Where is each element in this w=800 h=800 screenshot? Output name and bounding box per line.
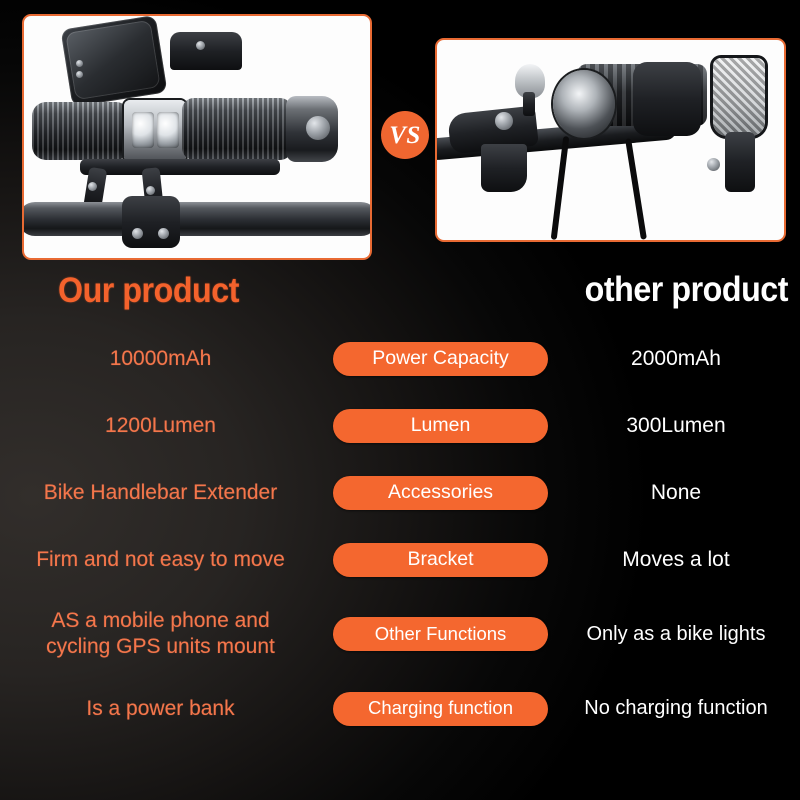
- comparison-row: 1200Lumen Lumen 300Lumen: [0, 392, 800, 459]
- our-value: 1200Lumen: [0, 413, 333, 439]
- other-product-photo: [435, 38, 786, 242]
- comparison-row: Is a power bank Charging function No cha…: [0, 675, 800, 742]
- feature-pill: Accessories: [333, 476, 548, 510]
- our-value: Bike Handlebar Extender: [0, 480, 333, 506]
- comparison-row: 10000mAh Power Capacity 2000mAh: [0, 325, 800, 392]
- brake-cable-left: [551, 136, 570, 240]
- other-light-mount-strap: [633, 62, 701, 136]
- feature-pill: Power Capacity: [333, 342, 548, 376]
- handlebar-reflector: [713, 58, 765, 136]
- comparison-row: AS a mobile phone and cycling GPS units …: [0, 593, 800, 675]
- comparison-row: Firm and not easy to move Bracket Moves …: [0, 526, 800, 593]
- bicycle-handlebar: [22, 202, 372, 236]
- brake-cable-right: [625, 138, 647, 240]
- light-mount-screw: [495, 112, 513, 130]
- comparison-rows: 10000mAh Power Capacity 2000mAh 1200Lume…: [0, 325, 800, 742]
- our-value: 10000mAh: [0, 346, 333, 372]
- handlebar-extender-bar: [80, 159, 280, 175]
- our-product-header: Our product: [58, 273, 239, 308]
- light-barrel-left-grip: [32, 102, 130, 160]
- reflector-stem: [725, 132, 755, 192]
- feature-pill: Bracket: [333, 543, 548, 577]
- our-value: Is a power bank: [0, 696, 333, 722]
- other-product-scene: [437, 40, 784, 240]
- cable-guide-bracket: [481, 144, 527, 192]
- clamp-bolt-a: [132, 228, 143, 239]
- feature-pill: Lumen: [333, 409, 548, 443]
- extender-bolt-right: [146, 186, 155, 195]
- other-light-lens-bezel: [553, 70, 615, 138]
- reflector-bolt: [707, 158, 720, 171]
- our-value-line-1: AS a mobile phone and: [0, 608, 321, 634]
- our-value-line-2: cycling GPS units mount: [0, 634, 321, 660]
- other-value: Moves a lot: [548, 547, 800, 573]
- phone-camera-lens-secondary: [76, 71, 83, 78]
- vs-badge-label: VS: [389, 123, 421, 148]
- other-value: No charging function: [548, 696, 800, 720]
- vs-badge: VS: [381, 111, 429, 159]
- our-value: Firm and not easy to move: [0, 547, 333, 573]
- other-product-header: other product: [585, 272, 788, 307]
- our-product-photo: [22, 14, 372, 260]
- led-emitter-right: [157, 112, 179, 148]
- phone-holder-arm: [170, 32, 242, 70]
- bell-stem: [523, 92, 535, 116]
- handlebar-clamp: [122, 196, 180, 248]
- other-value: 2000mAh: [548, 346, 800, 372]
- other-value: None: [548, 480, 800, 506]
- clamp-bolt-b: [158, 228, 169, 239]
- our-value: AS a mobile phone and cycling GPS units …: [0, 608, 333, 659]
- our-product-scene: [24, 16, 370, 258]
- holder-arm-bolt: [196, 41, 205, 50]
- product-comparison-poster: VS Our product other product: [0, 0, 800, 800]
- end-cap-button: [306, 116, 330, 140]
- led-emitter-left: [132, 112, 154, 148]
- light-barrel-right-grip: [182, 98, 292, 160]
- other-value: 300Lumen: [548, 413, 800, 439]
- feature-pill: Charging function: [333, 692, 548, 726]
- other-value: Only as a bike lights: [548, 622, 800, 646]
- phone-camera-lens: [76, 60, 83, 67]
- comparison-row: Bike Handlebar Extender Accessories None: [0, 459, 800, 526]
- feature-pill: Other Functions: [333, 617, 548, 651]
- extender-bolt-left: [88, 182, 97, 191]
